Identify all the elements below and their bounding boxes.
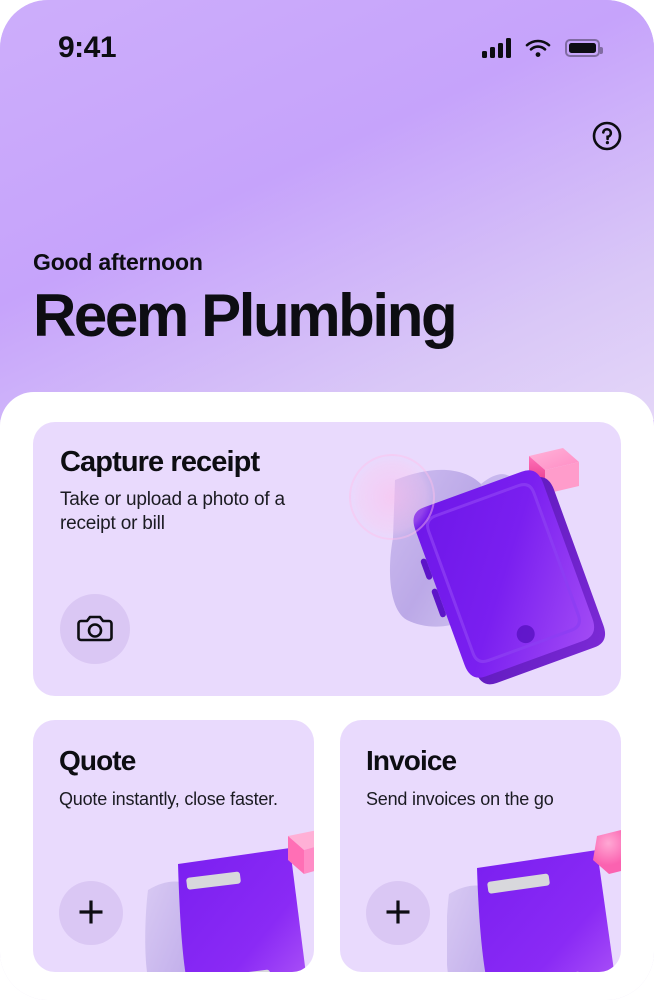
status-bar-icons — [482, 38, 600, 58]
capture-receipt-camera-button[interactable] — [60, 594, 130, 664]
quote-document-3d-illustration — [140, 830, 314, 972]
card-title: Capture receipt — [60, 446, 259, 479]
status-bar-clock: 9:41 — [58, 31, 116, 65]
card-title: Invoice — [366, 745, 456, 777]
battery-full-icon — [565, 39, 600, 57]
plus-icon — [383, 897, 413, 930]
card-subtitle: Quote instantly, close faster. — [59, 788, 299, 811]
halo-glow — [349, 454, 435, 540]
card-title: Quote — [59, 745, 135, 777]
invoice-document-3d-illustration — [447, 830, 621, 972]
wifi-icon — [525, 39, 551, 58]
card-quote[interactable]: Quote Quote instantly, close faster. — [33, 720, 314, 972]
card-subtitle: Take or upload a photo of a receipt or b… — [60, 488, 335, 537]
card-invoice[interactable]: Invoice Send invoices on the go — [340, 720, 621, 972]
card-subtitle: Send invoices on the go — [366, 788, 606, 811]
greeting-salutation: Good afternoon — [33, 249, 455, 276]
content-sheet: Capture receipt Take or upload a photo o… — [0, 392, 654, 1000]
invoice-add-button[interactable] — [366, 881, 430, 945]
card-capture-receipt[interactable]: Capture receipt Take or upload a photo o… — [33, 422, 621, 696]
greeting-block: Good afternoon Reem Plumbing — [33, 249, 455, 347]
help-button[interactable] — [582, 112, 632, 162]
help-circle-icon — [591, 120, 623, 155]
signal-bars-icon — [482, 38, 511, 58]
quote-add-button[interactable] — [59, 881, 123, 945]
page-title: Reem Plumbing — [33, 284, 455, 347]
receipt-phone-3d-illustration — [331, 428, 621, 696]
plus-icon — [76, 897, 106, 930]
status-bar: 9:41 — [0, 26, 654, 70]
phone-screen: 9:41 Good afternoon — [0, 0, 654, 1000]
camera-icon — [77, 612, 113, 647]
